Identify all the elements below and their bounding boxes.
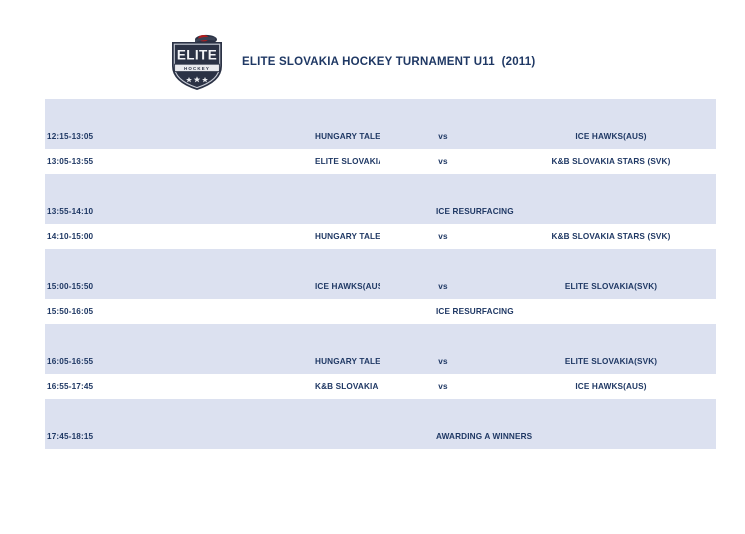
match-time: 16:55-17:45 <box>45 374 180 399</box>
schedule-spacer-row <box>45 99 716 124</box>
match-vs-label: vs <box>380 349 506 374</box>
svg-text:ELITE: ELITE <box>177 47 217 62</box>
match-vs-label: vs <box>380 374 506 399</box>
match-time: 12:15-13:05 <box>45 124 180 149</box>
svg-text:HOCKEY: HOCKEY <box>184 66 210 71</box>
match-time: 16:05-16:55 <box>45 349 180 374</box>
schedule-match-row: 16:05-16:55HUNGARY TALENT(HUN)vsELITE SL… <box>45 349 716 374</box>
schedule-spacer-row <box>45 249 716 274</box>
match-away-team: K&B SLOVAKIA STARS (SVK) <box>506 224 716 249</box>
schedule-spacer-row <box>45 174 716 199</box>
schedule-body: 12:15-13:05HUNGARY TALENT(HUN)vsICE HAWK… <box>45 99 716 449</box>
document-page: ELITE HOCKEY ELITE SLOVAKIA HOCKEY TURNA… <box>0 0 745 534</box>
schedule-spacer-cell <box>45 249 716 274</box>
schedule-spacer-cell <box>45 324 716 349</box>
event-label: AWARDING A WINNERS <box>180 424 716 449</box>
schedule-match-row: 12:15-13:05HUNGARY TALENT(HUN)vsICE HAWK… <box>45 124 716 149</box>
match-vs-label: vs <box>380 124 506 149</box>
event-time: 13:55-14:10 <box>45 199 180 224</box>
match-home-team: ICE HAWKS(AUS) <box>180 274 380 299</box>
match-away-team: ELITE SLOVAKIA(SVK) <box>506 274 716 299</box>
schedule-match-row: 16:55-17:45K&B SLOVAKIA STARS (SVK)vsICE… <box>45 374 716 399</box>
match-home-team: ELITE SLOVAKIA(SVK) <box>180 149 380 174</box>
match-home-team: HUNGARY TALENT(HUN) <box>180 224 380 249</box>
schedule-event-row: 17:45-18:15AWARDING A WINNERS <box>45 424 716 449</box>
match-home-team: HUNGARY TALENT(HUN) <box>180 124 380 149</box>
schedule-spacer-cell <box>45 174 716 199</box>
document-header: ELITE HOCKEY ELITE SLOVAKIA HOCKEY TURNA… <box>166 32 535 92</box>
match-vs-label: vs <box>380 224 506 249</box>
match-home-team: HUNGARY TALENT(HUN) <box>180 349 380 374</box>
match-time: 14:10-15:00 <box>45 224 180 249</box>
schedule-spacer-cell <box>45 399 716 424</box>
page-title: ELITE SLOVAKIA HOCKEY TURNAMENT U11 (201… <box>242 56 535 68</box>
schedule-spacer-row <box>45 399 716 424</box>
schedule-match-row: 15:00-15:50ICE HAWKS(AUS)vsELITE SLOVAKI… <box>45 274 716 299</box>
elite-hockey-shield-logo: ELITE HOCKEY <box>166 32 228 92</box>
match-vs-label: vs <box>380 149 506 174</box>
schedule-spacer-cell <box>45 99 716 124</box>
schedule-event-row: 13:55-14:10ICE RESURFACING <box>45 199 716 224</box>
match-away-team: ICE HAWKS(AUS) <box>506 374 716 399</box>
tournament-schedule-table: 12:15-13:05HUNGARY TALENT(HUN)vsICE HAWK… <box>45 99 716 449</box>
schedule-spacer-row <box>45 324 716 349</box>
match-away-team: K&B SLOVAKIA STARS (SVK) <box>506 149 716 174</box>
event-label: ICE RESURFACING <box>180 199 716 224</box>
schedule-match-row: 13:05-13:55ELITE SLOVAKIA(SVK)vsK&B SLOV… <box>45 149 716 174</box>
match-time: 15:00-15:50 <box>45 274 180 299</box>
event-time: 15:50-16:05 <box>45 299 180 324</box>
match-vs-label: vs <box>380 274 506 299</box>
event-label: ICE RESURFACING <box>180 299 716 324</box>
match-home-team: K&B SLOVAKIA STARS (SVK) <box>180 374 380 399</box>
schedule-match-row: 14:10-15:00HUNGARY TALENT(HUN)vsK&B SLOV… <box>45 224 716 249</box>
match-away-team: ICE HAWKS(AUS) <box>506 124 716 149</box>
event-time: 17:45-18:15 <box>45 424 180 449</box>
schedule-event-row: 15:50-16:05ICE RESURFACING <box>45 299 716 324</box>
match-time: 13:05-13:55 <box>45 149 180 174</box>
match-away-team: ELITE SLOVAKIA(SVK) <box>506 349 716 374</box>
